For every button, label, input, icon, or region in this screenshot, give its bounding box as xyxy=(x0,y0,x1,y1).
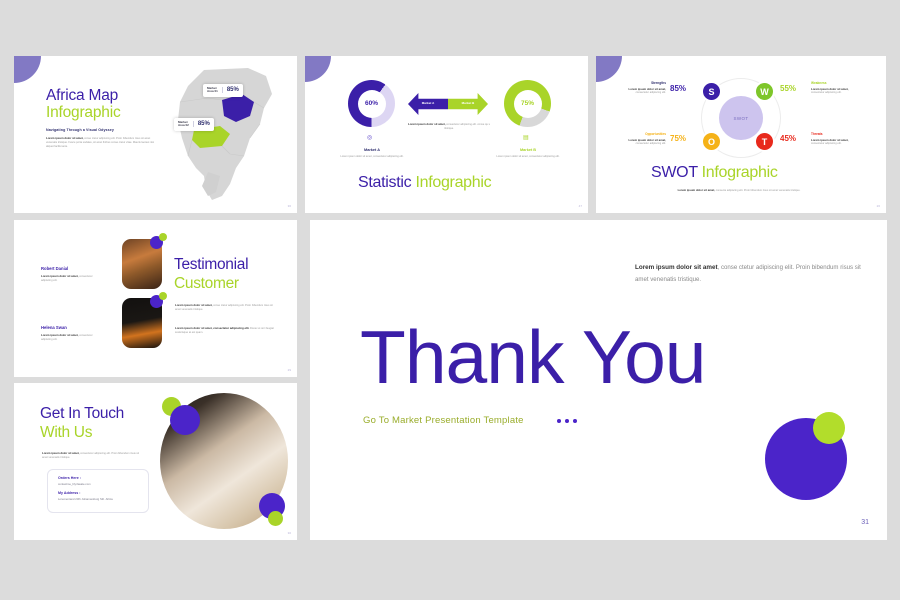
corner-blob-decoration xyxy=(14,56,41,83)
swot-percent-threats: 45% xyxy=(780,134,796,143)
testimonial-title-line1: Testimonial xyxy=(174,256,248,274)
contact-title-line2: With Us xyxy=(40,424,92,442)
africa-map-title-line1: Africa Map xyxy=(46,87,118,105)
swot-body-opportunities: consectetur adipiscing elit. xyxy=(616,142,666,146)
testimonial-quote-1: Lorem ipsum dolor sit amet, conse ctetur… xyxy=(175,303,275,312)
swot-percent-strengths: 85% xyxy=(670,84,686,93)
slide-page-number: 29 xyxy=(288,368,291,372)
swot-body-strengths: consectetur adipiscing elit. xyxy=(616,91,666,95)
swot-block-opportunities: Opportunities Lorem ipsum dolor sit amet… xyxy=(616,132,666,146)
market-b-label: Market B xyxy=(493,148,563,152)
donut-chart-market-b: 75% xyxy=(504,80,551,127)
arrow-left-label: Market A xyxy=(408,101,448,105)
map-callout-value-01: 85% xyxy=(222,87,239,93)
swot-heading-weakness: Weakness xyxy=(811,81,861,85)
map-callout-label-01: Market Area 01 xyxy=(207,87,218,95)
market-a-label: Market A xyxy=(337,148,407,152)
slide-africa-map[interactable]: Africa Map Infographic Navigating Throug… xyxy=(14,56,297,213)
slide-page-number: 26 xyxy=(877,204,880,208)
testimonial-body-2: Lorem ipsum dolor sit amet, consectetur … xyxy=(41,333,99,342)
swot-footer-rest: consecte adipiscing elit. Proin bibendum… xyxy=(715,189,800,192)
purple-dot-decoration xyxy=(170,405,200,435)
swot-title-b: Infographic xyxy=(702,164,778,181)
swot-title-a: SWOT xyxy=(651,164,702,181)
green-dot-decoration xyxy=(159,233,167,241)
chart-icon: ▤ xyxy=(523,134,529,141)
donut-chart-market-a: 60% xyxy=(348,80,395,127)
corner-blob-decoration xyxy=(305,56,331,82)
contact-body: Lorem ipsum dolor sit amet, consectetur … xyxy=(42,451,140,460)
africa-map-body: Lorem ipsum dolor sit amet, conse ctetur… xyxy=(46,136,154,149)
arrow-right-market-b: Market B xyxy=(448,93,488,115)
donut-value-b: 75% xyxy=(521,100,534,107)
swot-circle-strengths[interactable]: S xyxy=(701,81,722,102)
corner-blob-decoration xyxy=(596,56,622,82)
testimonial-title-line2: Customer xyxy=(174,275,239,293)
statistic-title-b: Infographic xyxy=(415,174,491,191)
donut-hole-b: 75% xyxy=(514,90,542,118)
green-dot-decoration xyxy=(159,292,167,300)
contact-title-line1: Get In Touch xyxy=(40,405,124,423)
contact-details-card: Orders Here : contactme_bly.llasale.com … xyxy=(47,469,149,513)
africa-map-body-bold: Lorem ipsum dolor sit amet, xyxy=(46,136,83,140)
testimonial-quote-2-bold: Lorem ipsum dolor sit amet, consectetur … xyxy=(175,326,249,330)
africa-map-title-line2: Infographic xyxy=(46,104,121,122)
swot-footer: Lorem ipsum dolor sit amet, consecte adi… xyxy=(674,188,804,193)
slide-get-in-touch[interactable]: Get In Touch With Us Lorem ipsum dolor s… xyxy=(14,383,297,540)
statistic-mid-rest: consectetur adipiscing elit. conse qu s … xyxy=(444,123,490,130)
swot-block-strengths: Strengths Lorem ipsum dolor sit amet, co… xyxy=(616,81,666,95)
map-callout-value-02: 85% xyxy=(193,121,210,127)
slide-swot-infographic[interactable]: SWOT S W O T 85% 55% 75% 45% Strengths L… xyxy=(596,56,886,213)
arrow-left-market-a: Market A xyxy=(408,93,448,115)
market-arrows-graphic: Market A Market B xyxy=(408,93,488,115)
statistic-title-a: Statistic xyxy=(358,174,415,191)
target-icon: ◎ xyxy=(367,134,372,141)
thank-you-note-bold: Lorem ipsum dolor sit amet xyxy=(635,264,718,271)
swot-circle-weakness[interactable]: W xyxy=(754,81,775,102)
contact-body-bold: Lorem ipsum dolor sit amet, xyxy=(42,451,79,455)
testimonial-name-1: Robert Danial xyxy=(41,266,68,271)
thank-you-note: Lorem ipsum dolor sit amet, conse ctetur… xyxy=(635,262,867,286)
orders-value[interactable]: contactme_bly.llasale.com xyxy=(58,482,138,486)
swot-percent-opportunities: 75% xyxy=(670,134,686,143)
market-a-body: Lorem ipsum dolor sit amet, consectetur … xyxy=(337,155,407,159)
slide-page-number: 30 xyxy=(288,531,291,535)
statistic-mid-bold: Lorem ipsum dolor sit amet, xyxy=(408,122,445,126)
thank-you-tagline: Go To Market Presentation Template xyxy=(363,415,524,426)
address-label: My Address : xyxy=(58,491,138,495)
swot-footer-bold: Lorem ipsum dolor sit amet, xyxy=(678,188,715,192)
slide-page-number: 47 xyxy=(579,204,582,208)
address-value: Lorementand 23th Johannesburg Sth. Afric… xyxy=(58,497,138,501)
market-b-body: Lorem ipsum dolor sit amet, consectetur … xyxy=(493,155,563,159)
green-dot-decoration xyxy=(268,511,283,526)
statistic-title: Statistic Infographic xyxy=(358,174,491,192)
testimonial-body-2-bold: Lorem ipsum dolor sit amet, xyxy=(41,333,78,337)
testimonial-body-1-bold: Lorem ipsum dolor sit amet, xyxy=(41,274,78,278)
swot-title: SWOT Infographic xyxy=(651,164,778,182)
map-callout-label-02: Market Area 02 xyxy=(178,121,189,129)
swot-heading-opportunities: Opportunities xyxy=(616,132,666,136)
green-circle-decoration xyxy=(813,412,845,444)
testimonial-body-1: Lorem ipsum dolor sit amet, consectetur … xyxy=(41,274,99,283)
swot-heading-strengths: Strengths xyxy=(616,81,666,85)
slide-thank-you[interactable]: Lorem ipsum dolor sit amet, conse ctetur… xyxy=(310,220,887,540)
swot-heading-threats: Threats xyxy=(811,132,861,136)
swot-circle-threats[interactable]: T xyxy=(754,131,775,152)
thank-you-headline: Thank You xyxy=(360,320,706,395)
dots-decoration xyxy=(557,419,577,423)
slide-page-number: 31 xyxy=(861,519,869,526)
orders-label: Orders Here : xyxy=(58,476,138,480)
presentation-preview-canvas: Africa Map Infographic Navigating Throug… xyxy=(0,0,900,600)
swot-circle-opportunities[interactable]: O xyxy=(701,131,722,152)
testimonial-quote-1-bold: Lorem ipsum dolor sit amet, xyxy=(175,303,212,307)
slide-statistic-infographic[interactable]: 60% 75% Market A Market B Lorem ipsum do… xyxy=(305,56,588,213)
swot-body-threats: consectetur adipiscing elit. xyxy=(811,142,861,146)
africa-map-subtitle: Navigating Through a Visual Odyssey xyxy=(46,128,114,132)
swot-body-weakness: consectetur adipiscing elit. xyxy=(811,91,861,95)
donut-hole-a: 60% xyxy=(358,90,386,118)
testimonial-name-2: Helena Swan xyxy=(41,325,67,330)
swot-percent-weakness: 55% xyxy=(780,84,796,93)
swot-block-threats: Threats Lorem ipsum dolor sit amet, cons… xyxy=(811,132,861,146)
swot-block-weakness: Weakness Lorem ipsum dolor sit amet, con… xyxy=(811,81,861,95)
arrow-right-label: Market B xyxy=(448,101,488,105)
statistic-mid-text: Lorem ipsum dolor sit amet, consectetur … xyxy=(408,122,490,131)
slide-page-number: 36 xyxy=(288,204,291,208)
testimonial-quote-2: Lorem ipsum dolor sit amet, consectetur … xyxy=(175,326,275,335)
slide-testimonial[interactable]: Robert Danial Lorem ipsum dolor sit amet… xyxy=(14,220,297,377)
map-callout-area-02[interactable]: Market Area 02 85% xyxy=(174,118,214,131)
donut-value-a: 60% xyxy=(365,100,378,107)
map-callout-area-01[interactable]: Market Area 01 85% xyxy=(203,84,243,97)
